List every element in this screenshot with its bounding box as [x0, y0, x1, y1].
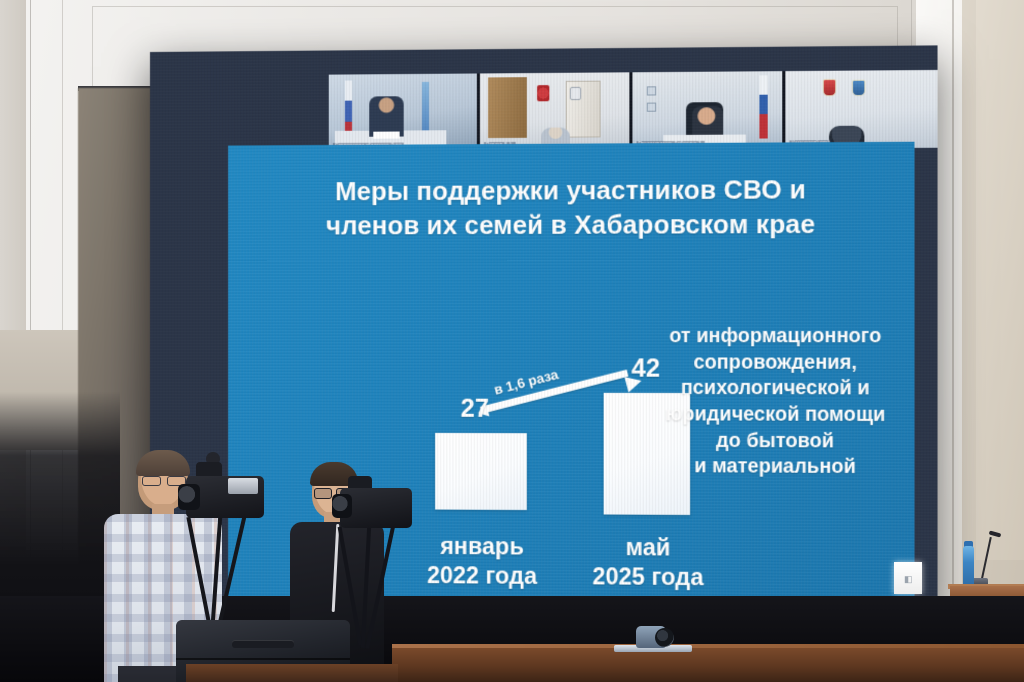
bar-value-label-1: 27	[461, 395, 489, 424]
side-text-line-5: до бытовой	[653, 428, 898, 455]
vc-tile-1[interactable]: Сахалинская областная Дума	[329, 73, 477, 151]
camcorder-left-lcd-panel	[228, 478, 258, 494]
equipment-case-seam	[176, 658, 350, 660]
vc-tile-2[interactable]: Павлов В.А.	[480, 72, 629, 150]
side-text-line-1: от информационного	[653, 324, 898, 350]
wall-picture-icon	[646, 103, 655, 112]
bar-category-2-line-2: 2025 года	[585, 562, 711, 592]
bar-category-1-line-1: январь	[410, 532, 555, 562]
bar-category-1-line-2: 2022 года	[410, 560, 555, 590]
vc-tile-2-room	[480, 72, 629, 150]
video-conference-strip[interactable]: Сахалинская областная Дума Павлов В.А.	[329, 70, 938, 151]
russian-flag-icon	[760, 75, 768, 138]
operator-left-hair	[136, 450, 190, 476]
framed-picture-icon	[570, 87, 581, 100]
vc-tile-3-room	[632, 71, 783, 149]
bar-category-label-1: январь 2022 года	[410, 532, 555, 591]
bar-1	[435, 433, 527, 510]
equipment-case-handle	[232, 640, 294, 648]
glasses-icon	[142, 476, 186, 484]
camcorder-right-lens-icon	[332, 494, 352, 518]
slide-title-line-2: членов их семей в Хабаровском крае	[254, 207, 889, 244]
conference-hall-scene: Сахалинская областная Дума Павлов В.А.	[0, 0, 1024, 682]
camcorder-left-lens-icon	[178, 484, 200, 510]
conference-table-front	[392, 648, 1024, 682]
conference-table-left-edge	[186, 664, 398, 682]
vc-tile-4[interactable]: Камчатский край	[786, 70, 938, 149]
coat-of-arms-icon	[537, 85, 549, 101]
vc-tile-1-room	[329, 73, 477, 151]
bar-chart: в 1,6 раза 27 январь 2022 года 42 май 20…	[349, 306, 655, 580]
vc-papers	[373, 132, 399, 139]
regional-emblem-icon	[852, 80, 866, 96]
coat-of-arms-icon	[823, 79, 837, 96]
side-text-line-3: психологической и	[653, 376, 898, 403]
wall-indicator-glyph-icon: ◧	[904, 574, 913, 585]
wall-beige-column-inner	[976, 0, 1024, 560]
wall-picture-icon	[646, 86, 655, 95]
wooden-door	[488, 77, 527, 138]
slide-side-text: от информационного сопровождения, психол…	[653, 324, 898, 481]
ptz-camera-lens-icon	[655, 628, 674, 647]
vc-tile-4-room	[786, 70, 938, 149]
bar-category-label-2: май 2025 года	[585, 533, 711, 592]
vc-tile-3[interactable]: Представитель Дубинина З.	[632, 71, 783, 149]
side-text-line-4: юридической помощи	[653, 402, 898, 429]
slide-title-line-1: Меры поддержки участников СВО и	[254, 173, 889, 210]
water-bottle	[963, 546, 974, 586]
side-text-line-2: сопровождения,	[653, 350, 898, 376]
bar-category-2-line-1: май	[585, 533, 711, 563]
side-text-line-6: и материальной	[653, 454, 898, 481]
presentation-screen[interactable]: Сахалинская областная Дума Павлов В.А.	[150, 45, 938, 614]
wall-pillar-edge-line	[952, 0, 954, 682]
slide-title: Меры поддержки участников СВО и членов и…	[254, 173, 889, 244]
